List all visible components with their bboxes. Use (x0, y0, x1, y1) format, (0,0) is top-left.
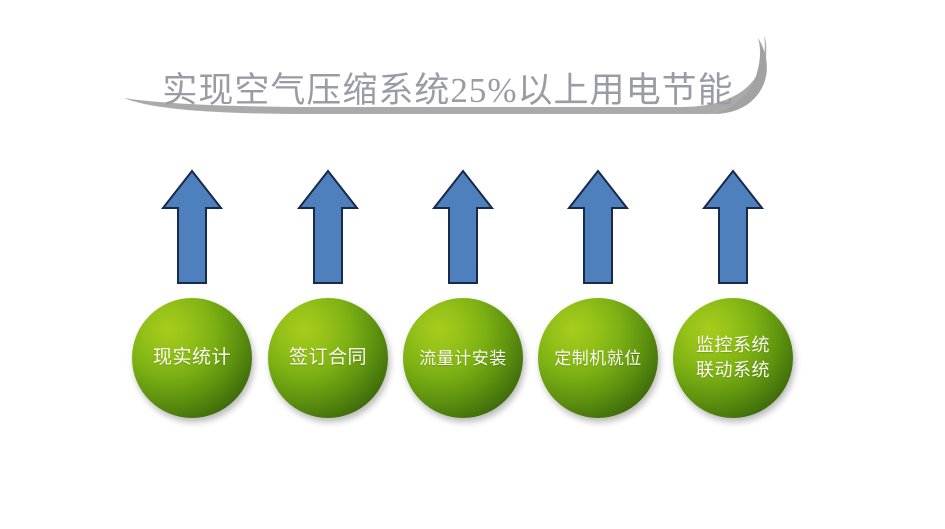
arrow-up-icon-4 (566, 168, 630, 286)
step-label-3: 流量计安装 (415, 347, 511, 370)
arrows-row (0, 168, 945, 288)
slide-canvas: 实现空气压缩系统25%以上用电节能 (0, 0, 945, 529)
process-steps-row: 现实统计 签订合同 流量计安装 定制机就位 监控系统 联动系统 (0, 298, 945, 428)
step-label-1: 现实统计 (149, 346, 235, 370)
arrow-up-icon-2 (296, 168, 360, 286)
step-label-5: 监控系统 联动系统 (692, 333, 774, 383)
step-label-4: 定制机就位 (550, 347, 646, 370)
arrow-up-icon-1 (160, 168, 224, 286)
title-banner: 实现空气压缩系统25%以上用电节能 (118, 30, 778, 135)
step-circle-4[interactable]: 定制机就位 (538, 298, 658, 418)
arrow-up-icon-3 (431, 168, 495, 286)
arrow-up-icon-5 (701, 168, 765, 286)
step-label-2: 签订合同 (285, 346, 371, 370)
step-circle-3[interactable]: 流量计安装 (403, 298, 523, 418)
step-circle-1[interactable]: 现实统计 (132, 298, 252, 418)
step-circle-2[interactable]: 签订合同 (268, 298, 388, 418)
step-circle-5[interactable]: 监控系统 联动系统 (673, 298, 793, 418)
page-title: 实现空气压缩系统25%以上用电节能 (148, 70, 748, 112)
